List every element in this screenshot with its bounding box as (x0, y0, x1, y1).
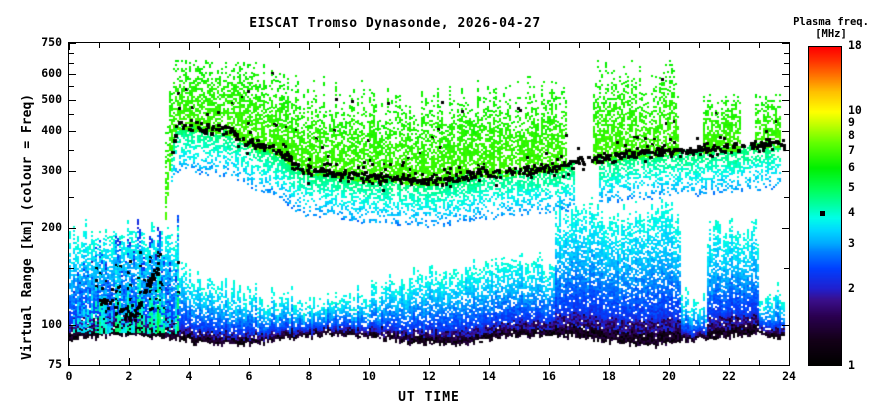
tick-mark (369, 43, 370, 50)
tick-mark (279, 360, 280, 365)
tick-mark (784, 86, 789, 87)
tick-mark (429, 358, 430, 365)
tick-mark (669, 43, 670, 50)
tick-mark (759, 360, 760, 365)
x-tick-label: 20 (649, 371, 689, 383)
x-tick-label: 14 (469, 371, 509, 383)
tick-mark (782, 74, 789, 75)
tick-mark (782, 228, 789, 229)
colorbar-gradient (809, 47, 841, 365)
tick-mark (69, 74, 76, 75)
tick-mark (99, 43, 100, 48)
tick-mark (782, 100, 789, 101)
tick-mark (69, 63, 74, 64)
tick-mark (639, 43, 640, 48)
tick-mark (784, 268, 789, 269)
tick-mark (99, 360, 100, 365)
tick-mark (249, 43, 250, 50)
y-tick-label: 75 (20, 359, 62, 371)
colorbar-tick-label: 5 (848, 182, 855, 194)
tick-mark (159, 360, 160, 365)
tick-mark (69, 268, 74, 269)
tick-mark (279, 43, 280, 48)
ionogram-data-canvas (69, 43, 789, 365)
tick-mark (429, 43, 430, 50)
colorbar-tick-label: 3 (848, 238, 855, 250)
tick-mark (639, 360, 640, 365)
tick-mark (369, 358, 370, 365)
colorbar-tick-label: 6 (848, 162, 855, 174)
colorbar-tick-label: 7 (848, 145, 855, 157)
tick-mark (159, 43, 160, 48)
x-tick-label: 4 (169, 371, 209, 383)
tick-mark (459, 360, 460, 365)
tick-mark (69, 197, 74, 198)
colorbar-title: Plasma freq. [MHz] (782, 16, 880, 40)
x-tick-label: 6 (229, 371, 269, 383)
y-axis-label: Virtual Range [km] (colour = Freq) (20, 94, 35, 360)
tick-mark (69, 228, 76, 229)
tick-mark (399, 43, 400, 48)
tick-mark (549, 43, 550, 50)
tick-mark (784, 197, 789, 198)
tick-mark (339, 43, 340, 48)
tick-mark (759, 43, 760, 48)
tick-mark (609, 43, 610, 50)
x-tick-label: 8 (289, 371, 329, 383)
colorbar-tick-label: 2 (848, 283, 855, 295)
tick-mark (789, 358, 790, 365)
x-tick-label: 2 (109, 371, 149, 383)
plot-area (68, 42, 790, 366)
x-tick-label: 22 (709, 371, 749, 383)
tick-mark (309, 43, 310, 50)
tick-mark (782, 131, 789, 132)
tick-mark (69, 100, 76, 101)
tick-mark (129, 358, 130, 365)
colorbar-title-line1: Plasma freq. (793, 16, 869, 28)
tick-mark (729, 358, 730, 365)
tick-mark (69, 86, 74, 87)
tick-mark (69, 114, 74, 115)
page-title: EISCAT Tromso Dynasonde, 2026-04-27 (0, 16, 790, 31)
tick-mark (579, 360, 580, 365)
tick-mark (69, 53, 74, 54)
colorbar-tick-label: 1 (848, 360, 855, 372)
tick-mark (69, 131, 76, 132)
tick-mark (699, 43, 700, 48)
ionogram-plot-page: EISCAT Tromso Dynasonde, 2026-04-27 7510… (0, 0, 880, 420)
tick-mark (609, 358, 610, 365)
tick-mark (69, 43, 76, 44)
tick-mark (489, 358, 490, 365)
tick-mark (219, 43, 220, 48)
x-tick-label: 12 (409, 371, 449, 383)
tick-mark (339, 360, 340, 365)
x-axis-label: UT TIME (68, 390, 790, 405)
tick-mark (519, 43, 520, 48)
tick-mark (782, 171, 789, 172)
tick-mark (669, 358, 670, 365)
x-tick-label: 18 (589, 371, 629, 383)
tick-mark (489, 43, 490, 50)
tick-mark (579, 43, 580, 48)
x-tick-label: 16 (529, 371, 569, 383)
tick-mark (784, 53, 789, 54)
tick-mark (129, 43, 130, 50)
colorbar-title-line2: [MHz] (815, 28, 847, 40)
tick-mark (219, 360, 220, 365)
tick-mark (784, 114, 789, 115)
tick-mark (519, 360, 520, 365)
tick-mark (69, 150, 74, 151)
tick-mark (729, 43, 730, 50)
tick-mark (69, 358, 70, 365)
tick-mark (69, 43, 70, 50)
colorbar (808, 46, 842, 366)
tick-mark (69, 325, 76, 326)
x-tick-label: 10 (349, 371, 389, 383)
tick-mark (699, 360, 700, 365)
colorbar-tick-label: 9 (848, 117, 855, 129)
y-tick-label: 600 (20, 68, 62, 80)
x-tick-label: 0 (49, 371, 89, 383)
tick-mark (784, 150, 789, 151)
tick-mark (189, 358, 190, 365)
y-tick-label: 750 (20, 37, 62, 49)
tick-mark (309, 358, 310, 365)
tick-mark (399, 360, 400, 365)
tick-mark (782, 43, 789, 44)
colorbar-tick-label: 4 (848, 207, 855, 219)
tick-mark (69, 365, 76, 366)
tick-mark (459, 43, 460, 48)
x-tick-label: 24 (769, 371, 809, 383)
tick-mark (789, 43, 790, 50)
tick-mark (189, 43, 190, 50)
tick-mark (782, 325, 789, 326)
tick-mark (782, 365, 789, 366)
tick-mark (69, 171, 76, 172)
colorbar-black-marker (820, 211, 825, 216)
tick-mark (549, 358, 550, 365)
tick-mark (249, 358, 250, 365)
colorbar-tick-label: 8 (848, 130, 855, 142)
colorbar-tick-label: 18 (848, 40, 862, 52)
tick-mark (784, 63, 789, 64)
